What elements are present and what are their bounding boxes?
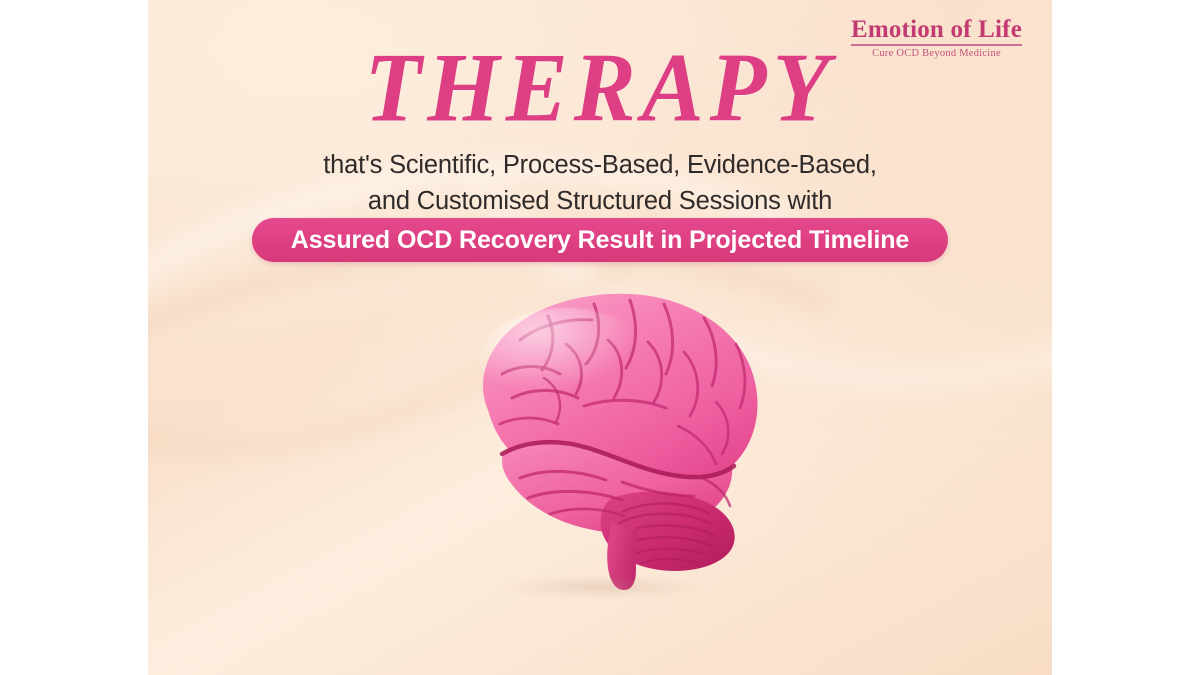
subheadline-line-1: that's Scientific, Process-Based, Eviden…: [148, 148, 1052, 183]
subheadline: that's Scientific, Process-Based, Eviden…: [148, 148, 1052, 218]
brain-highlight: [480, 308, 652, 416]
brain-illustration: [416, 282, 776, 594]
brain-drop-shadow: [456, 574, 746, 600]
highlight-banner: Assured OCD Recovery Result in Projected…: [252, 218, 948, 262]
highlight-banner-text: Assured OCD Recovery Result in Projected…: [291, 226, 909, 255]
subheadline-line-2: and Customised Structured Sessions with: [148, 184, 1052, 219]
brand-name: Emotion of Life: [851, 17, 1022, 42]
page-title: THERAPY: [148, 42, 1052, 136]
poster-stage: Emotion of Life Cure OCD Beyond Medicine…: [0, 0, 1200, 675]
poster-canvas: Emotion of Life Cure OCD Beyond Medicine…: [148, 0, 1052, 675]
brain-icon: [416, 282, 776, 594]
headline-block: THERAPY that's Scientific, Process-Based…: [148, 42, 1052, 219]
